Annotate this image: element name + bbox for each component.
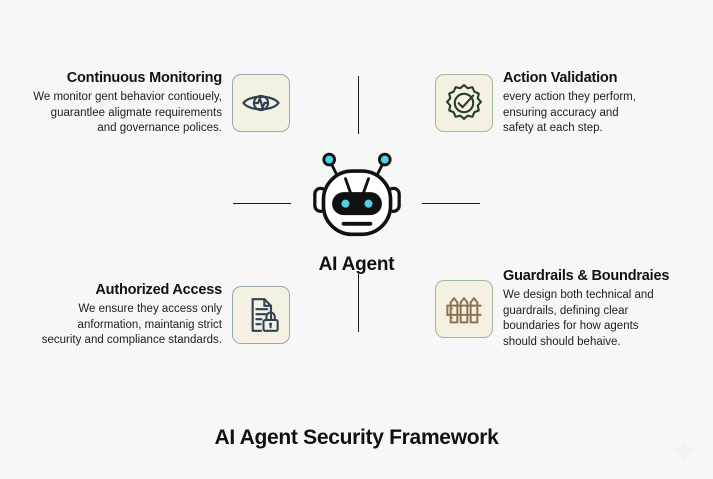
quadrant-text-block: Action Validation every action they perf… [503,70,636,137]
infographic-canvas: Continuous Monitoring We monitor gent be… [0,0,713,479]
quadrant-body: every action they perform, ensuring accu… [503,90,636,137]
quadrant-title: Authorized Access [95,282,222,299]
robot-icon [309,150,405,242]
quadrant-text-block: Continuous Monitoring We monitor gent be… [33,70,222,137]
page-title: AI Agent Security Framework [0,426,713,450]
quadrant-continuous-monitoring[interactable]: Continuous Monitoring We monitor gent be… [0,70,290,137]
quadrant-guardrails-boundaries[interactable]: Guardrails & Boundraies We design both t… [435,268,713,350]
quadrant-body: We monitor gent behavior contiouely, gua… [33,90,222,137]
quadrant-authorized-access[interactable]: Authorized Access We ensure they access … [0,282,290,349]
quadrant-body: We ensure they access only anformation, … [42,302,222,349]
connector-line-top [358,76,359,134]
quadrant-action-validation[interactable]: Action Validation every action they perf… [435,70,713,137]
center-node[interactable]: AI Agent [0,150,713,276]
quadrant-title: Continuous Monitoring [67,70,222,87]
document-lock-icon-tile[interactable] [232,286,290,344]
document-lock-icon [241,295,281,335]
sparkle-diamond-icon [669,435,699,465]
fence-icon [444,289,484,329]
eye-pulse-icon [241,83,281,123]
fence-icon-tile[interactable] [435,280,493,338]
quadrant-text-block: Authorized Access We ensure they access … [42,282,222,349]
gear-check-icon [443,82,485,124]
eye-pulse-icon-tile[interactable] [232,74,290,132]
quadrant-body: We design both technical and guardrails,… [503,288,654,350]
quadrant-title: Action Validation [503,70,617,87]
center-label: AI Agent [319,254,395,276]
gear-check-icon-tile[interactable] [435,74,493,132]
quadrant-text-block: Guardrails & Boundraies We design both t… [503,268,669,350]
connector-line-bottom [358,274,359,332]
